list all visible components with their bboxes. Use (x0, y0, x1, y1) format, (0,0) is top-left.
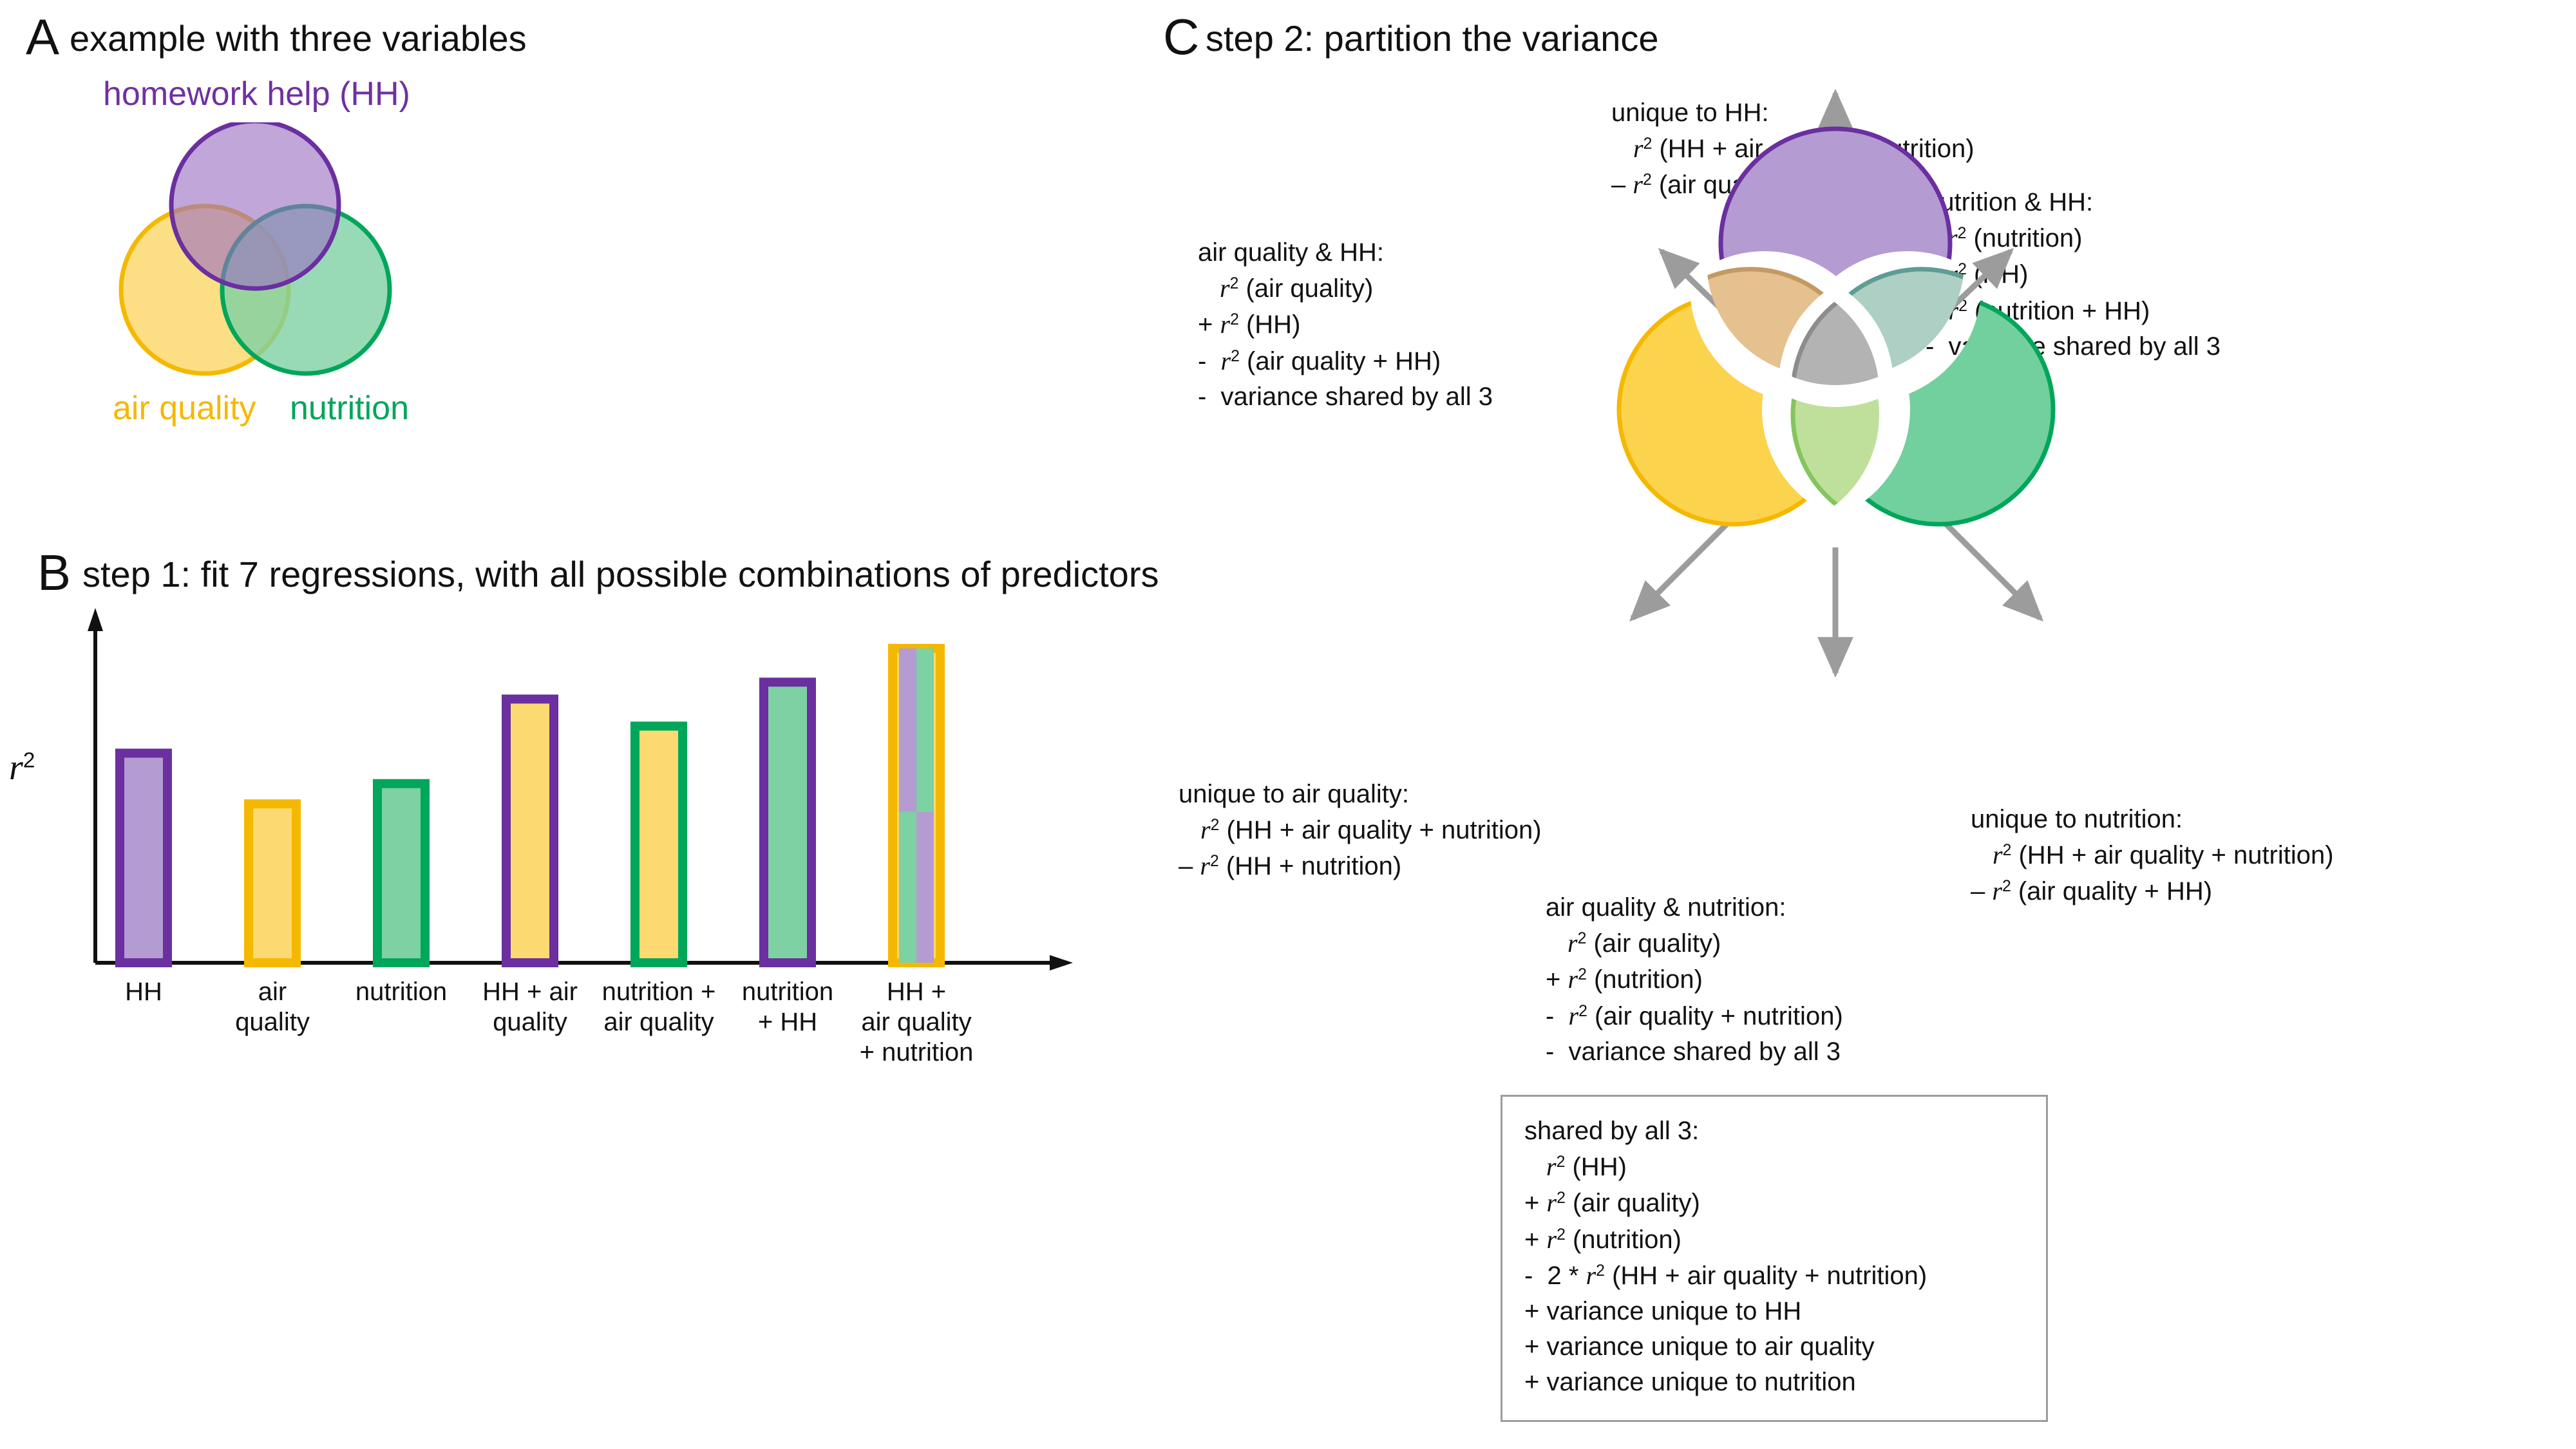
note-line: - r2 (air quality + nutrition) (1546, 998, 1843, 1034)
panel-c-title: step 2: partition the variance (1206, 21, 1659, 57)
note-shared-by-all-three: shared by all 3: r2 (HH) + r2 (air quali… (1501, 1095, 2048, 1422)
note-line: – r2 (HH + nutrition) (1179, 848, 1542, 884)
bar (635, 726, 683, 963)
venn-label-nutrition: nutrition (290, 392, 409, 425)
note-line: + variance unique to air quality (1524, 1329, 2024, 1365)
panel-a-title: example with three variables (70, 21, 527, 57)
x-axis-arrowhead (1050, 955, 1073, 971)
note-line: r2 (HH + air quality + nutrition) (1971, 837, 2334, 873)
note-line: r2 (air quality) (1546, 925, 1843, 961)
note-line: + r2 (HH) (1198, 307, 1493, 343)
note-line: + variance unique to nutrition (1524, 1365, 2024, 1400)
panel-c-letter: C (1163, 12, 1199, 62)
bar-stripe (899, 812, 916, 963)
note-line: + r2 (air quality) (1524, 1185, 2024, 1221)
bar-stripe (916, 812, 934, 963)
note-line: r2 (air quality) (1198, 270, 1493, 307)
bar-chart (0, 541, 1095, 1018)
note-line: - 2 * r2 (HH + air quality + nutrition) (1524, 1258, 2024, 1294)
y-axis-arrowhead (88, 608, 103, 631)
panel-b: B step 1: fit 7 regressions, with all po… (0, 541, 1133, 1018)
bar-category-label: HH +air quality+ nutrition (833, 977, 1000, 1068)
note-unique-to-nutrition: unique to nutrition: r2 (HH + air qualit… (1971, 802, 2334, 910)
panel-a-letter: A (26, 12, 59, 62)
exploded-venn-diagram (1513, 58, 2157, 702)
venn-label-air-quality: air quality (113, 392, 256, 425)
bar (377, 784, 425, 963)
bar (120, 753, 167, 963)
bar (249, 804, 296, 963)
note-air-quality-and-hh: air quality & HH: r2 (air quality) + r2 … (1198, 235, 1493, 415)
note-line: r2 (HH + air quality + nutrition) (1179, 812, 1542, 848)
venn-circle-hh (171, 122, 339, 289)
note-line: + r2 (nutrition) (1546, 961, 1843, 998)
note-heading: air quality & HH: (1198, 235, 1493, 270)
note-unique-to-air-quality: unique to air quality: r2 (HH + air qual… (1179, 777, 1542, 885)
venn-diagram-a (90, 122, 425, 399)
note-line: - variance shared by all 3 (1198, 379, 1493, 415)
venn-label-hh: homework help (HH) (103, 77, 410, 111)
note-line: - r2 (air quality + HH) (1198, 343, 1493, 379)
note-heading: air quality & nutrition: (1546, 890, 1843, 925)
note-heading: unique to nutrition: (1971, 802, 2334, 837)
note-line: + r2 (nutrition) (1524, 1222, 2024, 1258)
bar-stripe (916, 649, 934, 812)
panel-c: C step 2: partition the variance unique … (1153, 0, 2576, 1449)
bar (506, 699, 554, 963)
note-line: - variance shared by all 3 (1546, 1034, 1843, 1070)
panel-a: A example with three variables homework … (0, 0, 580, 489)
bar-series (120, 649, 940, 963)
note-line: – r2 (air quality + HH) (1971, 873, 2334, 909)
bar (764, 682, 811, 963)
note-heading: shared by all 3: (1524, 1113, 2024, 1149)
note-line: + variance unique to HH (1524, 1294, 2024, 1329)
note-heading: unique to air quality: (1179, 777, 1542, 812)
note-air-quality-and-nutrition: air quality & nutrition: r2 (air quality… (1546, 890, 1843, 1070)
note-line: r2 (HH) (1524, 1149, 2024, 1185)
bar-stripe (899, 649, 916, 812)
